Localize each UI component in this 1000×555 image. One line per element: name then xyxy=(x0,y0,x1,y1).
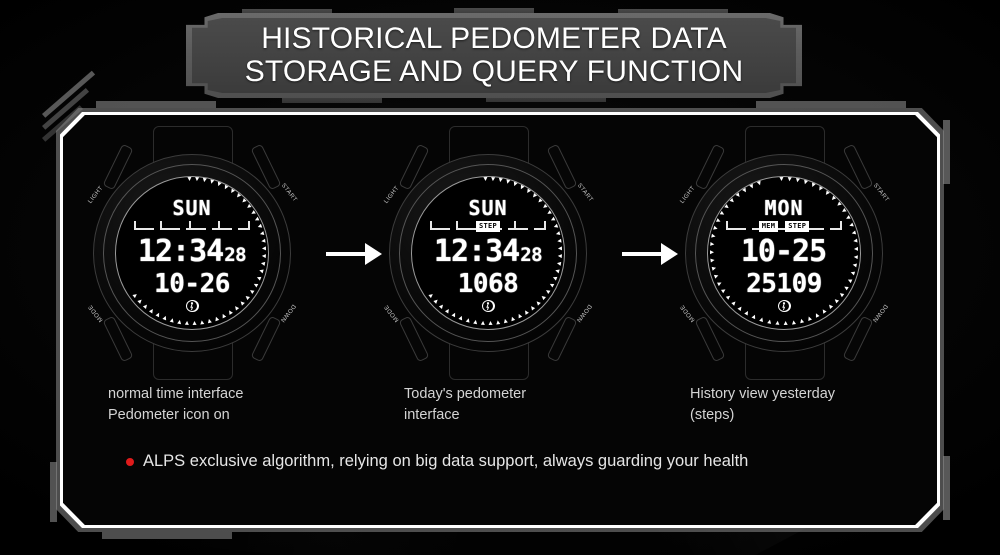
caption-history-yesterday: History view yesterday (steps) xyxy=(690,384,940,426)
dial-tick xyxy=(505,179,510,184)
dial-tick xyxy=(207,318,212,323)
lcd-rail-tick xyxy=(189,221,191,228)
dial-tick xyxy=(466,318,471,323)
watch-button-mode[interactable]: MODE xyxy=(679,303,696,322)
dial-tick xyxy=(162,315,167,320)
frame-accent-top-edge-right xyxy=(756,101,906,108)
feature-note: ALPS exclusive algorithm, relying on big… xyxy=(126,450,886,473)
dial-tick xyxy=(177,320,182,325)
caption-line-2: Pedometer icon on xyxy=(108,405,358,426)
watch-button-mode[interactable]: MODE xyxy=(383,303,400,322)
watch-button-down[interactable]: DOWN xyxy=(575,303,593,323)
lcd-rail xyxy=(134,228,250,230)
lcd-rail-tick xyxy=(160,221,162,228)
lcd-indicator-bar: MEM STEP xyxy=(726,221,842,232)
dial-tick xyxy=(209,179,214,184)
dial-tick xyxy=(187,177,191,181)
dial-tick xyxy=(483,177,487,181)
dial-tick xyxy=(498,178,503,183)
watch-case: LIGHT START MODE DOWN MON MEM STEP xyxy=(682,138,886,368)
dial-tick xyxy=(852,263,857,268)
lcd-flag-mem: MEM xyxy=(759,221,779,232)
lcd-primary-readout: 12:34 28 xyxy=(138,237,246,267)
dial-tick xyxy=(558,246,562,250)
watch-button-light[interactable]: LIGHT xyxy=(680,185,697,205)
dial-tick xyxy=(262,246,266,250)
dial-tick xyxy=(256,275,261,280)
lcd-weekday: SUN xyxy=(172,198,211,218)
watch-button-light[interactable]: LIGHT xyxy=(384,185,401,205)
dial-tick xyxy=(854,247,858,251)
dial-tick xyxy=(779,177,783,181)
dial-tick xyxy=(803,180,808,185)
dial-tick xyxy=(784,321,788,325)
lcd-primary-value: 12:34 xyxy=(138,237,223,267)
dial-tick xyxy=(851,230,856,235)
dial-tick xyxy=(759,317,764,322)
caption-line-2: (steps) xyxy=(690,405,940,426)
title-line-1: HISTORICAL PEDOMETER DATA xyxy=(261,23,727,55)
dial-tick xyxy=(510,316,515,321)
watch-case: LIGHT START MODE DOWN SUN xyxy=(90,138,294,368)
frame-accent-top-edge xyxy=(96,101,216,108)
caption-line-2: interface xyxy=(404,405,654,426)
title-banner: HISTORICAL PEDOMETER DATA STORAGE AND QU… xyxy=(186,13,802,98)
dial-tick xyxy=(713,226,718,231)
dial-tick xyxy=(262,254,266,258)
dial-tick xyxy=(257,224,262,229)
dial-tick xyxy=(553,224,558,229)
dial-tick xyxy=(714,273,719,278)
dial-tick xyxy=(259,231,264,236)
lcd-rail-tick xyxy=(248,221,250,228)
dial-tick xyxy=(503,318,508,323)
dial-tick xyxy=(810,182,815,187)
lcd-flags: MEM STEP xyxy=(759,221,810,232)
dial-tick xyxy=(557,261,562,266)
watch-button-down[interactable]: DOWN xyxy=(279,303,297,323)
dial-tick xyxy=(854,255,858,259)
caption-line-1: Today's pedometer xyxy=(404,384,654,405)
dial-tick xyxy=(555,231,560,236)
dial-tick xyxy=(757,181,762,186)
lcd-seconds-value: 28 xyxy=(520,246,542,265)
page-title: HISTORICAL PEDOMETER DATA STORAGE AND QU… xyxy=(186,13,802,98)
dial-tick xyxy=(712,266,717,271)
dial-tick xyxy=(496,320,501,325)
dial-tick xyxy=(555,268,560,273)
lcd-rail-tick xyxy=(456,221,458,228)
dial-tick xyxy=(451,312,456,317)
dial-tick xyxy=(710,258,714,262)
watch-button-light[interactable]: LIGHT xyxy=(88,185,105,205)
lcd-secondary-readout: 25109 xyxy=(746,271,822,297)
watch-case: LIGHT START MODE DOWN SUN STEP xyxy=(386,138,590,368)
watch-button-down[interactable]: DOWN xyxy=(871,303,889,323)
pedometer-icon xyxy=(778,300,791,312)
watch-button-start[interactable]: START xyxy=(576,183,594,204)
dial-tick xyxy=(517,313,522,318)
dial-tick xyxy=(202,178,207,183)
dial-tick xyxy=(491,177,495,181)
frame-accent-right xyxy=(943,120,950,184)
watch-lcd-screen: MON MEM STEP 10-25 25109 xyxy=(720,194,848,312)
dial-tick xyxy=(767,319,772,324)
dial-tick xyxy=(814,312,819,317)
dial-tick xyxy=(818,186,823,191)
lcd-indicator-bar: STEP xyxy=(430,221,546,232)
watch-lcd-screen: SUN 12:34 28 10-26 xyxy=(128,194,256,312)
lcd-flag-step: STEP xyxy=(785,221,809,232)
dial-tick xyxy=(799,318,804,323)
lcd-indicator-bar xyxy=(134,221,250,232)
dial-tick xyxy=(850,270,855,275)
lcd-rail-tick xyxy=(726,221,728,228)
dial-tick xyxy=(214,316,219,321)
pedometer-icon xyxy=(482,300,495,312)
dial-tick xyxy=(787,177,791,181)
dial-tick xyxy=(458,315,463,320)
dial-tick xyxy=(795,178,800,183)
lcd-weekday: MON xyxy=(764,198,803,218)
dial-tick xyxy=(216,182,221,187)
watch-button-mode[interactable]: MODE xyxy=(87,303,104,322)
dial-tick xyxy=(261,239,266,244)
arrow-shaft xyxy=(622,252,662,256)
watch-normal-time[interactable]: LIGHT START MODE DOWN SUN xyxy=(72,128,312,378)
caption-today-pedometer: Today's pedometer interface xyxy=(404,384,654,426)
feature-note-text: ALPS exclusive algorithm, relying on big… xyxy=(143,450,748,473)
dial-tick xyxy=(552,275,557,280)
dial-tick xyxy=(775,321,779,325)
caption-line-1: normal time interface xyxy=(108,384,358,405)
dial-tick xyxy=(742,188,748,194)
lcd-rail-tick xyxy=(430,221,432,228)
watch-sequence: LIGHT START MODE DOWN SUN xyxy=(72,128,928,378)
dial-tick xyxy=(853,239,858,244)
dial-tick xyxy=(481,321,485,325)
watch-button-start[interactable]: START xyxy=(280,183,298,204)
dial-tick xyxy=(200,320,205,325)
frame-accent-bottom-right xyxy=(943,456,950,520)
frame-accent-bottom-edge xyxy=(102,532,232,539)
caption-line-1: History view yesterday xyxy=(690,384,940,405)
dial-tick xyxy=(192,321,196,325)
lcd-primary-readout: 10-25 xyxy=(741,237,827,267)
dial-tick xyxy=(261,261,266,266)
dial-tick xyxy=(710,250,714,254)
watch-lcd-screen: SUN STEP 12:34 28 xyxy=(424,194,552,312)
dial-tick xyxy=(519,185,524,190)
lcd-flag-step: STEP xyxy=(476,221,500,232)
dial-tick xyxy=(711,234,716,239)
dial-tick xyxy=(752,314,757,319)
dial-tick xyxy=(221,313,226,318)
pedometer-icon xyxy=(186,300,199,312)
watch-history-yesterday[interactable]: LIGHT START MODE DOWN MON MEM STEP xyxy=(664,128,904,378)
lcd-flags: STEP xyxy=(476,221,500,232)
dial-tick xyxy=(807,316,812,321)
dial-tick xyxy=(185,321,189,325)
dial-tick xyxy=(473,320,478,325)
frame-accent-bottom-left xyxy=(50,462,57,522)
lcd-rail-tick xyxy=(134,221,136,228)
watch-today-pedometer[interactable]: LIGHT START MODE DOWN SUN STEP xyxy=(368,128,608,378)
lcd-primary-value: 10-25 xyxy=(741,237,826,267)
lcd-seconds-value: 28 xyxy=(224,246,246,265)
watch-button-start[interactable]: START xyxy=(872,183,890,204)
dial-tick xyxy=(710,242,714,246)
dial-tick xyxy=(849,223,854,228)
slide-root: HISTORICAL PEDOMETER DATA STORAGE AND QU… xyxy=(0,0,1000,555)
dial-tick xyxy=(558,254,562,258)
dial-tick xyxy=(749,184,754,189)
dial-tick xyxy=(195,177,199,181)
lcd-secondary-readout: 1068 xyxy=(458,271,519,297)
dial-tick xyxy=(155,312,160,317)
lcd-rail-tick xyxy=(840,221,842,228)
title-line-2: STORAGE AND QUERY FUNCTION xyxy=(245,56,744,88)
lcd-secondary-readout: 10-26 xyxy=(154,271,230,297)
dial-tick xyxy=(488,321,492,325)
dial-tick xyxy=(512,182,517,187)
lcd-rail-tick xyxy=(514,221,516,228)
dial-tick xyxy=(791,320,796,325)
lcd-primary-value: 12:34 xyxy=(434,237,519,267)
dial-tick xyxy=(223,185,228,190)
bullet-icon xyxy=(126,458,134,466)
lcd-rail-tick xyxy=(544,221,546,228)
caption-row: normal time interface Pedometer icon on … xyxy=(108,384,938,438)
arrow-shaft xyxy=(326,252,366,256)
lcd-primary-readout: 12:34 28 xyxy=(434,237,542,267)
lcd-rail-tick xyxy=(218,221,220,228)
dial-tick xyxy=(170,318,175,323)
lcd-weekday: SUN xyxy=(468,198,507,218)
caption-normal-time: normal time interface Pedometer icon on xyxy=(108,384,358,426)
dial-tick xyxy=(557,239,562,244)
dial-tick xyxy=(259,268,264,273)
